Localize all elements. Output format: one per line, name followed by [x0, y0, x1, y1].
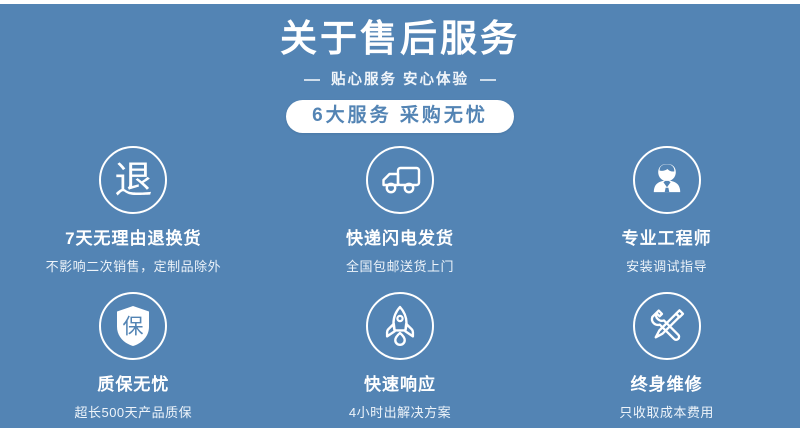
svg-text:保: 保: [123, 315, 144, 339]
service-desc: 安装调试指导: [626, 258, 707, 276]
service-desc: 超长500天产品质保: [74, 404, 192, 422]
service-desc: 4小时出解决方案: [349, 404, 451, 422]
service-grid: 退 7天无理由退换货 不影响二次销售，定制品除外 快递闪电发货 全国包邮送货上门: [0, 136, 800, 428]
service-badge: 6大服务 采购无忧: [286, 100, 514, 133]
service-title: 7天无理由退换货: [65, 228, 201, 250]
service-title: 质保无忧: [97, 374, 169, 396]
rocket-icon: [366, 292, 434, 360]
service-item-warranty[interactable]: 保 质保无忧 超长500天产品质保: [0, 282, 267, 428]
service-title: 终身维修: [631, 374, 703, 396]
service-item-return[interactable]: 退 7天无理由退换货 不影响二次销售，定制品除外: [0, 136, 267, 282]
service-badge-label: 6大服务 采购无忧: [312, 105, 488, 126]
service-desc: 只收取成本费用: [619, 404, 714, 422]
subtitle-row: 贴心服务 安心体验: [0, 70, 800, 90]
after-sales-service-banner: 关于售后服务 贴心服务 安心体验 6大服务 采购无忧 退 7天无理由退换货 不影…: [0, 0, 800, 428]
service-item-repair[interactable]: 终身维修 只收取成本费用: [533, 282, 800, 428]
return-glyph: 退: [114, 161, 152, 199]
banner-header: 关于售后服务 贴心服务 安心体验 6大服务 采购无忧: [0, 8, 800, 134]
service-title: 专业工程师: [622, 228, 712, 250]
return-character-icon: 退: [99, 146, 167, 214]
warranty-shield-icon: 保: [99, 292, 167, 360]
service-desc: 不影响二次销售，定制品除外: [46, 258, 222, 276]
service-item-shipping[interactable]: 快递闪电发货 全国包邮送货上门: [267, 136, 534, 282]
dash-left-icon: [304, 79, 320, 81]
wrench-screwdriver-icon: [633, 292, 701, 360]
dash-right-icon: [480, 79, 496, 81]
engineer-person-icon: [633, 146, 701, 214]
service-item-engineer[interactable]: 专业工程师 安装调试指导: [533, 136, 800, 282]
subtitle-text: 贴心服务 安心体验: [331, 70, 469, 90]
delivery-truck-icon: [366, 146, 434, 214]
service-title: 快递闪电发货: [346, 228, 454, 250]
service-title: 快速响应: [364, 374, 436, 396]
page-title: 关于售后服务: [0, 8, 800, 61]
service-desc: 全国包邮送货上门: [346, 258, 454, 276]
service-item-response[interactable]: 快速响应 4小时出解决方案: [267, 282, 534, 428]
